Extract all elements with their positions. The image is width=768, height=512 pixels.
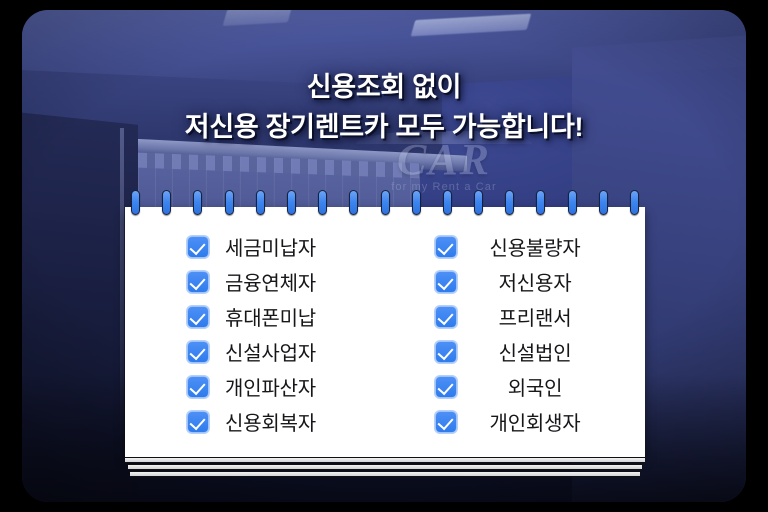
checkmark-icon bbox=[437, 413, 453, 429]
spiral-ring bbox=[412, 190, 421, 215]
spiral-ring bbox=[443, 190, 452, 215]
spiral-ring bbox=[318, 190, 327, 215]
checkbox-checked-icon[interactable] bbox=[435, 411, 457, 433]
spiral-ring bbox=[162, 190, 171, 215]
notepad-page-stack bbox=[125, 457, 645, 477]
checklist-item-label: 외국인 bbox=[475, 372, 595, 401]
checkbox-checked-icon[interactable] bbox=[187, 271, 209, 293]
spiral-ring bbox=[256, 190, 265, 215]
checklist-item[interactable]: 저신용자 bbox=[435, 264, 645, 299]
checklist-item-label: 신용회복자 bbox=[225, 407, 316, 436]
spiral-ring bbox=[225, 190, 234, 215]
spiral-ring bbox=[474, 190, 483, 215]
checklist-item[interactable]: 개인파산자 bbox=[187, 369, 397, 404]
notepad-spiral-rings bbox=[125, 190, 645, 216]
checkmark-icon bbox=[437, 378, 453, 394]
checklist-item[interactable]: 세금미납자 bbox=[187, 229, 397, 264]
checkbox-checked-icon[interactable] bbox=[187, 341, 209, 363]
checkbox-checked-icon[interactable] bbox=[435, 306, 457, 328]
checklist-item-label: 신설법인 bbox=[475, 337, 595, 366]
checkmark-icon bbox=[189, 238, 205, 254]
checkbox-checked-icon[interactable] bbox=[187, 376, 209, 398]
spiral-ring bbox=[193, 190, 202, 215]
headline-line-2: 저신용 장기렌트카 모두 가능합니다! bbox=[22, 110, 746, 146]
headline-line-1: 신용조회 없이 bbox=[22, 70, 746, 106]
checkmark-icon bbox=[189, 413, 205, 429]
spiral-ring bbox=[599, 190, 608, 215]
spiral-ring bbox=[287, 190, 296, 215]
spiral-ring bbox=[381, 190, 390, 215]
headline: 신용조회 없이 저신용 장기렌트카 모두 가능합니다! bbox=[22, 70, 746, 145]
stacked-sheet bbox=[128, 464, 643, 470]
checklist-item[interactable]: 프리랜서 bbox=[435, 299, 645, 334]
checkmark-icon bbox=[437, 308, 453, 324]
checklist-item-label: 개인회생자 bbox=[475, 407, 595, 436]
checklist-item-label: 프리랜서 bbox=[475, 302, 595, 331]
checkbox-checked-icon[interactable] bbox=[435, 376, 457, 398]
checkmark-icon bbox=[437, 273, 453, 289]
checklist-item-label: 금융연체자 bbox=[225, 267, 316, 296]
checkbox-checked-icon[interactable] bbox=[435, 236, 457, 258]
checklist-column-left: 세금미납자금융연체자휴대폰미납신설사업자개인파산자신용회복자 bbox=[125, 229, 397, 447]
checkbox-checked-icon[interactable] bbox=[187, 411, 209, 433]
checklist-item-label: 저신용자 bbox=[475, 267, 595, 296]
checkmark-icon bbox=[189, 273, 205, 289]
checklist-item[interactable]: 개인회생자 bbox=[435, 404, 645, 439]
notepad: 세금미납자금융연체자휴대폰미납신설사업자개인파산자신용회복자신용불량자저신용자프… bbox=[125, 190, 645, 477]
spiral-ring bbox=[131, 190, 140, 215]
stacked-sheet bbox=[130, 471, 640, 477]
checkmark-icon bbox=[189, 343, 205, 359]
checklist-column-right: 신용불량자저신용자프리랜서신설법인외국인개인회생자 bbox=[397, 229, 645, 447]
checkmark-icon bbox=[189, 308, 205, 324]
checklist-item-label: 세금미납자 bbox=[225, 232, 316, 261]
checklist-item-label: 휴대폰미납 bbox=[225, 302, 316, 331]
checklist: 세금미납자금융연체자휴대폰미납신설사업자개인파산자신용회복자신용불량자저신용자프… bbox=[125, 207, 645, 457]
checklist-item[interactable]: 신설법인 bbox=[435, 334, 645, 369]
checkmark-icon bbox=[437, 238, 453, 254]
checklist-item-label: 신용불량자 bbox=[475, 232, 595, 261]
spiral-ring bbox=[536, 190, 545, 215]
spiral-ring bbox=[349, 190, 358, 215]
checkmark-icon bbox=[437, 343, 453, 359]
spiral-ring bbox=[630, 190, 639, 215]
checkbox-checked-icon[interactable] bbox=[435, 271, 457, 293]
checklist-item[interactable]: 신용회복자 bbox=[187, 404, 397, 439]
spiral-ring bbox=[568, 190, 577, 215]
checklist-item[interactable]: 휴대폰미납 bbox=[187, 299, 397, 334]
checklist-item[interactable]: 신용불량자 bbox=[435, 229, 645, 264]
checklist-item-label: 개인파산자 bbox=[225, 372, 316, 401]
checkmark-icon bbox=[189, 378, 205, 394]
checklist-item[interactable]: 외국인 bbox=[435, 369, 645, 404]
checkbox-checked-icon[interactable] bbox=[187, 236, 209, 258]
checklist-item-label: 신설사업자 bbox=[225, 337, 316, 366]
checkbox-checked-icon[interactable] bbox=[187, 306, 209, 328]
screenshot-frame: CAR for my Rent a Car 신용조회 없이 저신용 장기렌트카 … bbox=[0, 0, 768, 512]
checkbox-checked-icon[interactable] bbox=[435, 341, 457, 363]
checklist-item[interactable]: 신설사업자 bbox=[187, 334, 397, 369]
stacked-sheet bbox=[125, 457, 645, 463]
promo-image-plate: CAR for my Rent a Car 신용조회 없이 저신용 장기렌트카 … bbox=[22, 10, 746, 502]
notepad-page: 세금미납자금융연체자휴대폰미납신설사업자개인파산자신용회복자신용불량자저신용자프… bbox=[125, 207, 645, 457]
checklist-item[interactable]: 금융연체자 bbox=[187, 264, 397, 299]
spiral-ring bbox=[505, 190, 514, 215]
